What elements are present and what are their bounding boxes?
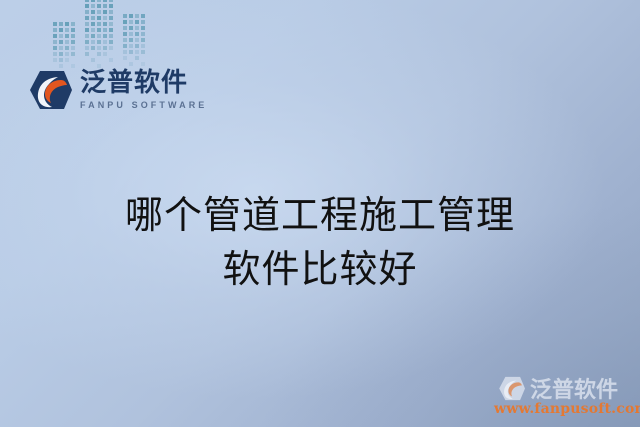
poster-canvas: 泛普软件 FANPU SOFTWARE 哪个管道工程施工管理 软件比较好 泛普软… [0, 0, 640, 427]
watermark-brand-name: 泛普软件 [530, 372, 618, 404]
brand-text-block: 泛普软件 FANPU SOFTWARE [80, 70, 207, 110]
page-title: 哪个管道工程施工管理 软件比较好 [0, 188, 640, 296]
brand-name-cn: 泛普软件 [80, 70, 207, 96]
page-title-line-2: 软件比较好 [0, 242, 640, 296]
watermark-logo-row: 泛普软件 [494, 372, 634, 404]
page-title-line-1: 哪个管道工程施工管理 [0, 188, 640, 242]
pixel-towers-pattern-icon [52, 0, 162, 72]
watermark: 泛普软件 www.fanpusoft.com [494, 372, 634, 417]
brand-name-en: FANPU SOFTWARE [80, 101, 207, 110]
fanpu-hexagon-logo-watermark-icon [498, 375, 525, 402]
fanpu-hexagon-logo-icon [28, 68, 72, 112]
brand-logo-lockup: 泛普软件 FANPU SOFTWARE [28, 68, 207, 112]
